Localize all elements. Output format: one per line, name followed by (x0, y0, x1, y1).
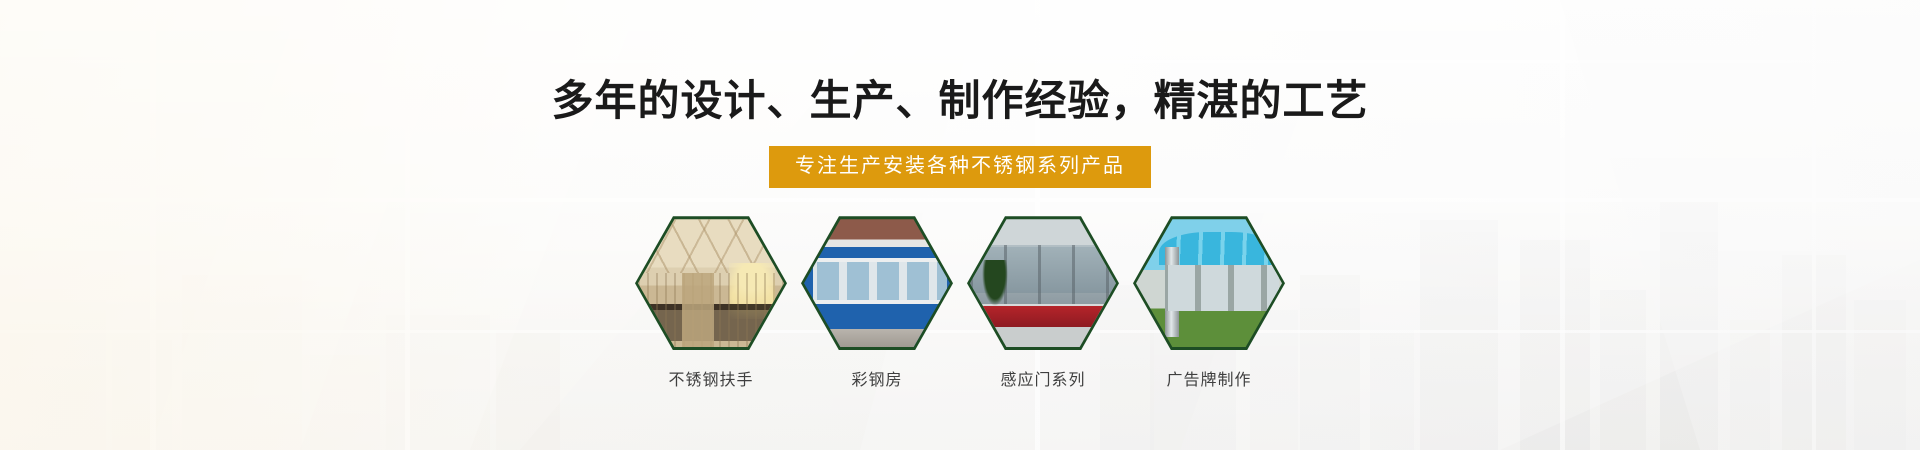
potted-plant-detail (982, 260, 1008, 306)
billboard-making-photo (1136, 219, 1282, 347)
hexagon-frame[interactable] (967, 216, 1119, 350)
banner-content: 多年的设计、生产、制作经验，精湛的工艺 专注生产安装各种不锈钢系列产品 不锈钢扶… (0, 0, 1920, 450)
billboard-post-detail (1165, 247, 1179, 337)
product-label: 彩钢房 (851, 366, 902, 390)
product-item-color-steel-house[interactable]: 彩钢房 (801, 216, 953, 390)
product-label: 广告牌制作 (1166, 366, 1251, 390)
product-item-sensor-door[interactable]: 感应门系列 (967, 216, 1119, 390)
banner-subtitle-badge: 专注生产安装各种不锈钢系列产品 (769, 146, 1151, 188)
hexagon-image-clip (804, 219, 950, 347)
hexagon-image-clip (970, 219, 1116, 347)
hexagon-frame[interactable] (635, 216, 787, 350)
product-hexagon-row: 不锈钢扶手 彩钢房 (635, 216, 1285, 390)
product-item-stainless-handrail[interactable]: 不锈钢扶手 (635, 216, 787, 390)
product-label: 感应门系列 (1000, 366, 1085, 390)
product-item-billboard-making[interactable]: 广告牌制作 (1133, 216, 1285, 390)
sensor-door-photo (970, 219, 1116, 347)
chandelier-detail (729, 263, 775, 319)
hexagon-frame[interactable] (1133, 216, 1285, 350)
product-label: 不锈钢扶手 (668, 366, 753, 390)
hexagon-image-clip (638, 219, 784, 347)
banner-headline: 多年的设计、生产、制作经验，精湛的工艺 (551, 78, 1368, 124)
color-steel-house-photo (804, 219, 950, 347)
promo-banner: 多年的设计、生产、制作经验，精湛的工艺 专注生产安装各种不锈钢系列产品 不锈钢扶… (0, 0, 1920, 450)
hexagon-image-clip (1136, 219, 1282, 347)
stainless-handrail-photo (638, 219, 784, 347)
hexagon-frame[interactable] (801, 216, 953, 350)
